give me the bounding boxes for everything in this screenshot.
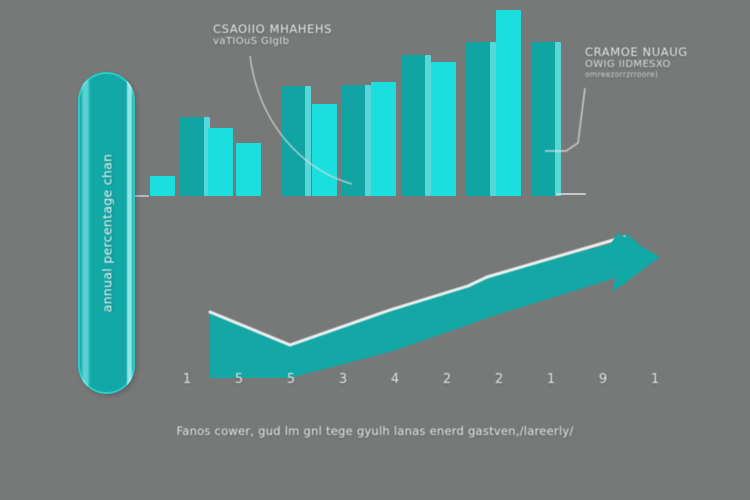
x-tick-9: 1 <box>643 372 667 387</box>
bar-1 <box>150 176 175 196</box>
bar-face <box>281 86 306 196</box>
annotation-right-line1: CRAMOE NUAUG <box>585 45 688 59</box>
figure-caption: Fanos cower, gud lm gnl tege gyulh lanas… <box>0 424 750 438</box>
bar-12 <box>496 10 521 196</box>
bar-9 <box>401 55 426 196</box>
x-tick-2: 5 <box>279 372 303 387</box>
bar-face <box>496 10 521 196</box>
bar-8 <box>371 82 396 196</box>
area-chart-line <box>210 237 624 345</box>
area-chart-fill <box>210 232 655 378</box>
annotation-left-line1: CSAOIIO MHAHEHS <box>213 22 332 36</box>
annotation-right: CRAMOE NUAUG OWIG IIDMESXO omreezorrzrro… <box>585 45 688 79</box>
y-axis-label-text: annual percentage chan <box>99 154 114 313</box>
annotation-right-line3: omreezorrzrroore) <box>585 70 688 79</box>
annotation-left: CSAOIIO MHAHEHS vaTIOuS GIgIb <box>213 22 332 47</box>
bar-5 <box>281 86 306 196</box>
x-tick-7: 1 <box>539 372 563 387</box>
bar-11 <box>466 42 491 196</box>
y-axis-label-pill: annual percentage chan <box>78 72 135 394</box>
bar-highlight-edge <box>305 86 311 196</box>
bar-face <box>466 42 491 196</box>
axis-baseline-right-stub <box>556 193 586 195</box>
bar-13 <box>531 42 556 196</box>
bar-face <box>341 85 366 196</box>
figure-canvas: annual percentage chan CSAOIIO MHAHEHS v… <box>0 0 750 500</box>
x-tick-0: 1 <box>175 372 199 387</box>
bar-face <box>371 82 396 196</box>
bar-face <box>431 62 456 196</box>
bar-3 <box>208 128 233 196</box>
bar-face <box>208 128 233 196</box>
bar-7 <box>341 85 366 196</box>
x-tick-5: 2 <box>435 372 459 387</box>
annotation-left-line2: vaTIOuS GIgIb <box>213 36 332 47</box>
x-tick-4: 4 <box>383 372 407 387</box>
x-tick-1: 5 <box>227 372 251 387</box>
bar-face <box>180 117 205 196</box>
x-tick-8: 9 <box>591 372 615 387</box>
x-tick-3: 3 <box>331 372 355 387</box>
bar-10 <box>431 62 456 196</box>
pill-highlight-right <box>127 79 132 387</box>
bar-face <box>401 55 426 196</box>
x-axis-tick-labels: 1 5 5 3 4 2 2 1 9 1 <box>0 372 750 394</box>
bar-face <box>236 143 261 196</box>
annotation-right-line2: OWIG IIDMESXO <box>585 59 688 70</box>
bar-6 <box>312 104 337 196</box>
bar-face <box>150 176 175 196</box>
bar-highlight-edge <box>555 42 561 196</box>
bar-face <box>531 42 556 196</box>
bar-face <box>312 104 337 196</box>
bar-2 <box>180 117 205 196</box>
x-tick-6: 2 <box>487 372 511 387</box>
bar-4 <box>236 143 261 196</box>
pill-highlight-left <box>82 79 89 387</box>
area-chart-arrowhead <box>598 233 660 292</box>
